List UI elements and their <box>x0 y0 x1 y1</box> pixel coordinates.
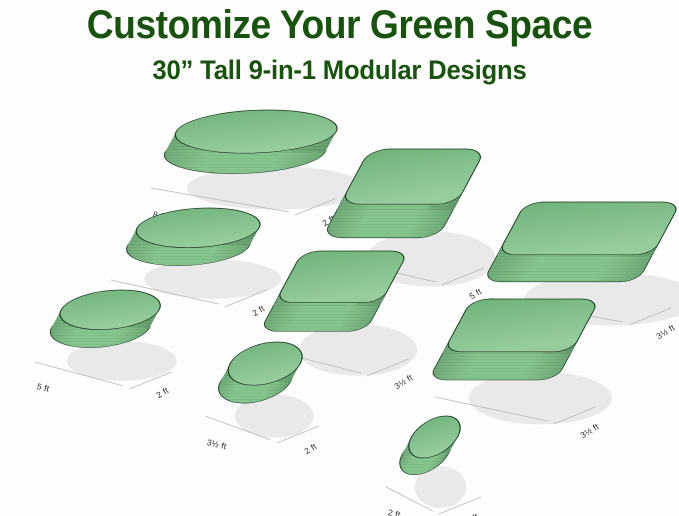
green-space-product-graphic: Customize Your Green Space 30” Tall 9-in… <box>0 0 679 516</box>
raised-bed-illustration-scene: 8 ft2 ft5 ft5 ft6½ ft3½ ft6½ ft2 ft3½ ft… <box>0 0 679 516</box>
bed-round-2x2-dimension-lines <box>378 477 544 516</box>
bed-oval-3h-x-2: 3½ ft2 ft <box>197 336 387 516</box>
bed-oval-3h-x-2-dimension-lines <box>197 406 387 466</box>
bed-round-2x2: 2 ft2 ft <box>378 410 544 516</box>
